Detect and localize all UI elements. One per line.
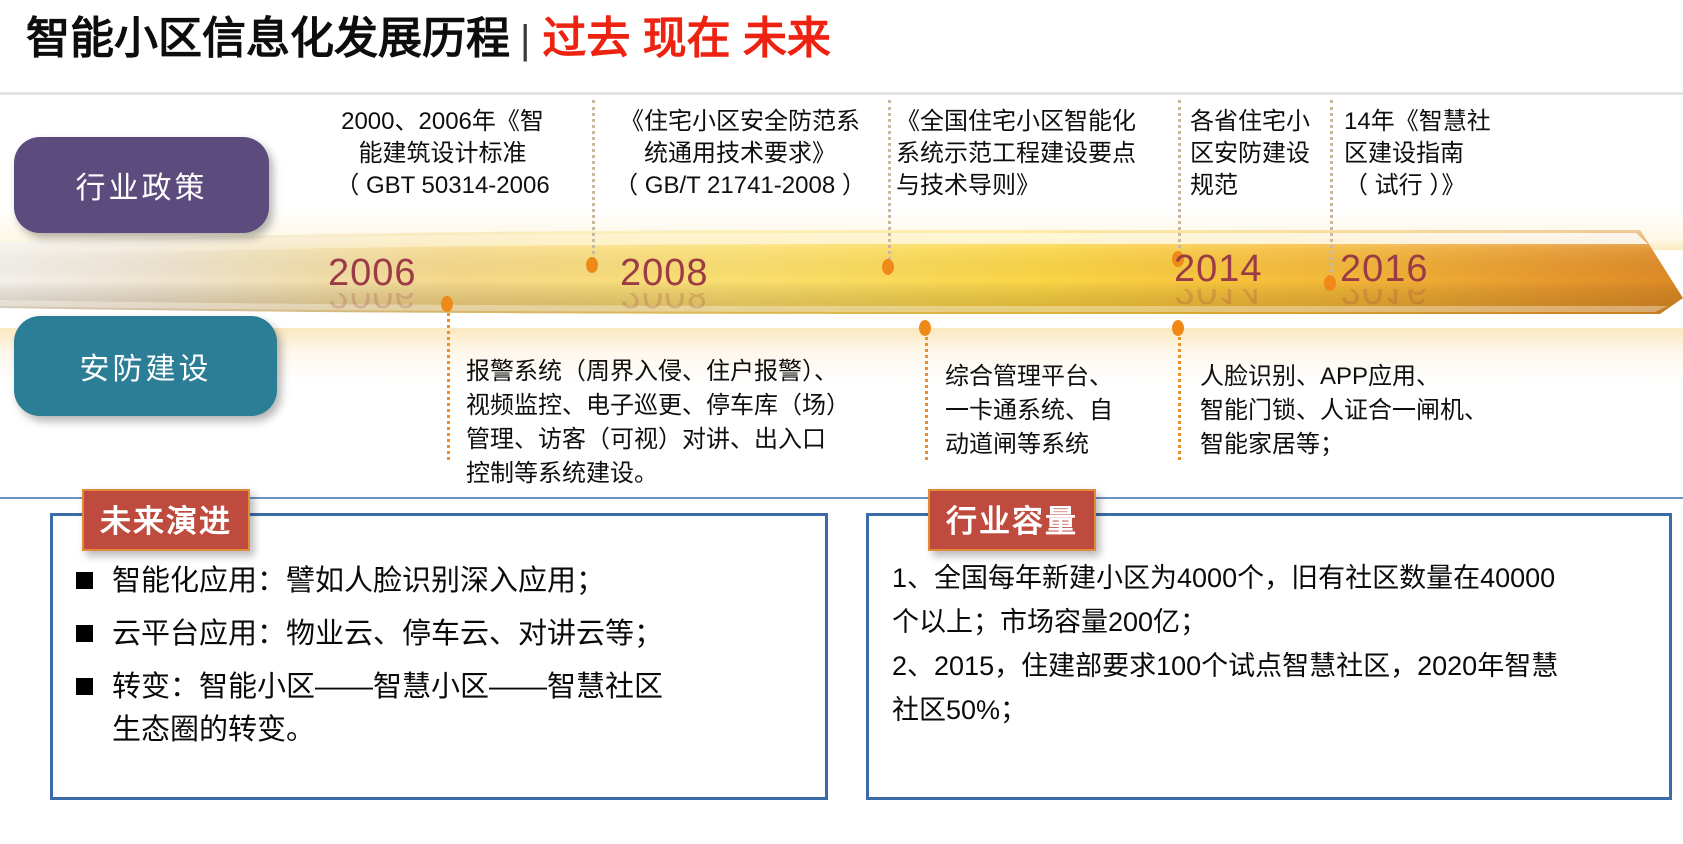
policy-item-5: 14年《智慧社 区建设指南 （ 试行 ）》 xyxy=(1344,106,1544,202)
section-divider xyxy=(0,497,1683,499)
policy-separator-4 xyxy=(1330,100,1333,285)
square-bullet-icon xyxy=(76,625,93,642)
category-pill-policy-label: 行业政策 xyxy=(76,163,208,207)
policy-item-1: 2000、2006年《智 能建筑设计标准 （ GBT 50314-2006 xyxy=(305,106,580,202)
security-item-2: 综合管理平台、 一卡通系统、自 动道闸等系统 xyxy=(945,360,1170,462)
security-dot-1 xyxy=(441,296,453,312)
policy-separator-3 xyxy=(1178,100,1181,260)
security-dot-3 xyxy=(1172,320,1184,336)
future-bullet-1: 智能化应用：譬如人脸识别深入应用； xyxy=(112,560,605,603)
title-accent-text: 过去 现在 未来 xyxy=(542,2,830,66)
category-pill-policy[interactable]: 行业政策 xyxy=(14,137,269,233)
list-item: 智能化应用：譬如人脸识别深入应用； xyxy=(76,560,806,603)
list-item: 云平台应用：物业云、停车云、对讲云等； xyxy=(76,613,806,656)
security-item-3: 人脸识别、APP应用、 智能门锁、人证合一闸机、 智能家居等； xyxy=(1200,360,1640,462)
industry-capacity-text: 1、全国每年新建小区为4000个，旧有社区数量在40000 个以上；市场容量20… xyxy=(892,556,1652,732)
year-reflection-2006: 2006 xyxy=(328,293,417,315)
year-reflection-2016: 2016 xyxy=(1340,289,1429,311)
timeline-dot-2008 xyxy=(586,257,598,273)
future-evolution-list: 智能化应用：譬如人脸识别深入应用； 云平台应用：物业云、停车云、对讲云等； 转变… xyxy=(76,560,806,762)
title-separator: | xyxy=(520,18,530,63)
timeline-dot-2010 xyxy=(882,259,894,275)
year-label-2006: 2006 xyxy=(328,252,417,295)
list-item: 转变：智能小区——智慧小区——智慧社区 生态圈的转变。 xyxy=(76,666,806,752)
policy-item-3: 《全国住宅小区智能化 系统示范工程建设要点 与技术导则》 xyxy=(896,106,1171,202)
year-label-2016: 2016 xyxy=(1340,248,1429,291)
category-pill-security[interactable]: 安防建设 xyxy=(14,316,277,416)
header-divider xyxy=(0,92,1683,95)
year-label-2014: 2014 xyxy=(1174,248,1263,291)
policy-item-2: 《住宅小区安全防范系 统通用技术要求》 （ GB/T 21741-2008 ） xyxy=(604,106,876,202)
category-pill-security-label: 安防建设 xyxy=(80,344,212,388)
future-evolution-tag: 未来演进 xyxy=(82,489,250,551)
year-reflection-2014: 2014 xyxy=(1174,289,1263,311)
policy-separator-2 xyxy=(888,100,891,260)
square-bullet-icon xyxy=(76,572,93,589)
square-bullet-icon xyxy=(76,678,93,695)
policy-separator-1 xyxy=(592,100,595,260)
page-title: 智能小区信息化发展历程 | 过去 现在 未来 xyxy=(26,2,831,66)
future-bullet-2: 云平台应用：物业云、停车云、对讲云等； xyxy=(112,613,663,656)
security-separator-1 xyxy=(447,308,450,460)
security-separator-2 xyxy=(925,330,928,460)
industry-capacity-tag: 行业容量 xyxy=(928,489,1096,551)
title-main-text: 智能小区信息化发展历程 xyxy=(26,2,510,66)
year-reflection-2008: 2008 xyxy=(620,293,709,315)
year-label-2008: 2008 xyxy=(620,252,709,295)
future-bullet-3: 转变：智能小区——智慧小区——智慧社区 生态圈的转变。 xyxy=(112,666,663,752)
security-dot-2 xyxy=(919,320,931,336)
timeline-dot-2016 xyxy=(1324,275,1336,291)
security-separator-3 xyxy=(1178,330,1181,460)
policy-item-4: 各省住宅小 区安防建设 规范 xyxy=(1190,106,1330,202)
security-item-1: 报警系统（周界入侵、住户报警）、 视频监控、电子巡更、停车库（场） 管理、访客（… xyxy=(466,355,916,491)
